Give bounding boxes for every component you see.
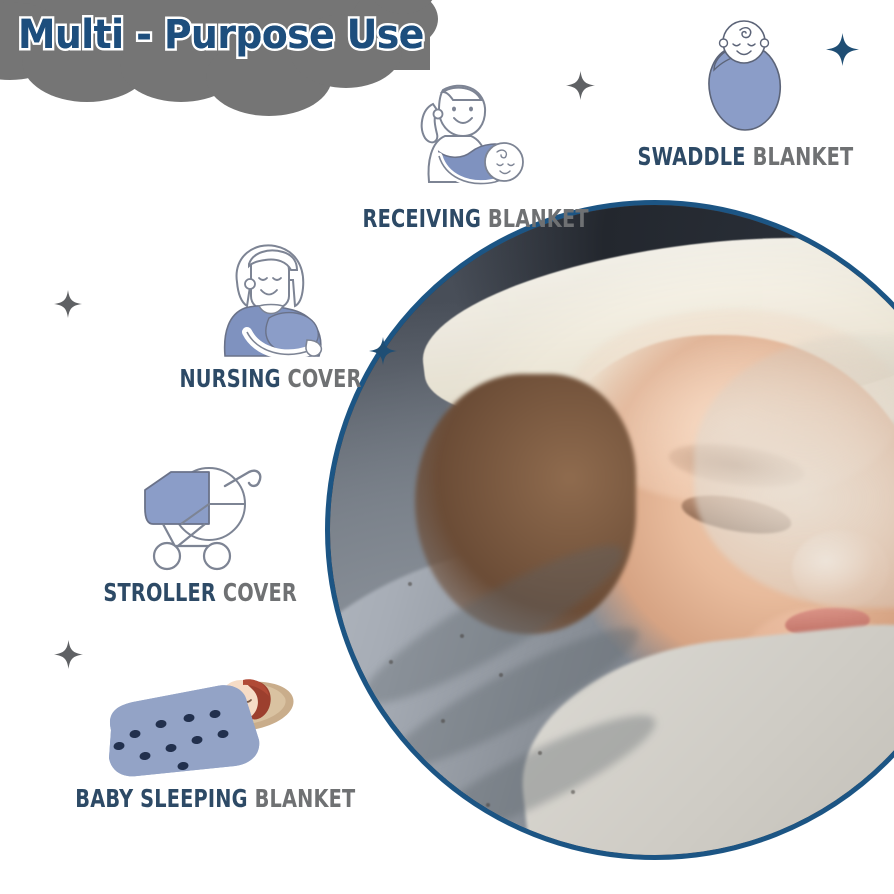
star-grey-top-center [566,71,595,100]
sleeping-baby-icon [93,668,308,780]
feature-receiving-blanket: RECEIVING BLANKET [345,78,595,233]
sleeping-baby-photo [325,200,894,860]
star-navy-top-right [826,33,859,66]
feature-nursing-cover: NURSING COVER [158,240,383,393]
label-secondary: COVER [223,578,297,607]
page-title: Multi - Purpose Use [18,12,424,58]
label-secondary: BLANKET [753,142,854,171]
label-primary: STROLLER [103,578,216,607]
feature-label-nursing-cover: NURSING COVER [174,364,368,393]
label-primary: RECEIVING [363,204,481,233]
feature-stroller-cover: STROLLER COVER [88,462,308,607]
star-navy-center [369,337,397,365]
infographic-canvas: Multi - Purpose Use Multi - Purpose Use [0,0,894,894]
label-secondary: BLANKET [488,204,589,233]
label-primary: SWADDLE [638,142,746,171]
feature-label-receiving-blanket: RECEIVING BLANKET [363,204,578,233]
label-primary: NURSING [179,364,280,393]
star-grey-left-upper [54,290,82,318]
feature-label-baby-sleeping-blanket: BABY SLEEPING BLANKET [75,784,324,813]
nursing-mother-icon [207,240,335,360]
mother-holding-baby-icon [405,78,535,200]
stroller-icon [133,462,263,572]
feature-label-stroller-cover: STROLLER COVER [103,578,292,607]
feature-baby-sleeping-blanket: BABY SLEEPING BLANKET [55,668,345,813]
label-secondary: COVER [288,364,362,393]
star-grey-left-lower [54,640,83,669]
label-primary: BABY SLEEPING [75,784,247,813]
feature-label-swaddle-blanket: SWADDLE BLANKET [638,142,853,171]
label-secondary: BLANKET [255,784,356,813]
swaddled-baby-icon [700,18,790,136]
